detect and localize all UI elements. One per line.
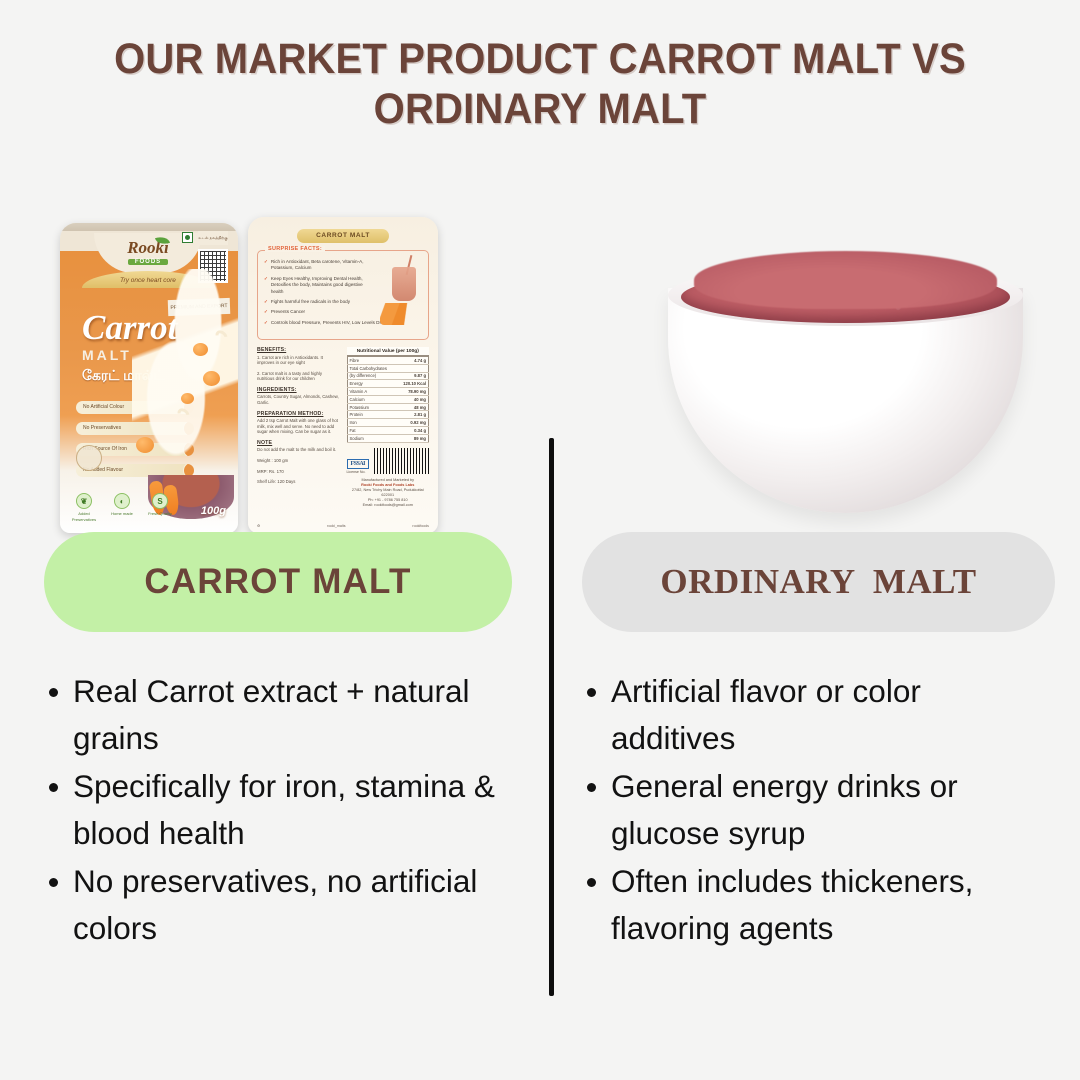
product-name: Carrot bbox=[82, 308, 177, 347]
carrot-malt-label: CARROT MALT bbox=[144, 562, 411, 602]
certification-item: ❦ Added Preservatives bbox=[70, 493, 98, 523]
check-icon: ✓ bbox=[264, 320, 268, 326]
surprise-facts-title: SURPRISE FACTS: bbox=[265, 246, 325, 252]
nutrient-value: 89 mg bbox=[396, 434, 428, 442]
cashew-icon bbox=[213, 328, 229, 344]
benefit-text: 1. Carrot are rich in Antioxidants. It i… bbox=[257, 355, 340, 366]
check-icon: ✓ bbox=[264, 259, 268, 272]
back-detail-columns: BENEFITS: 1. Carrot are rich in Antioxid… bbox=[257, 347, 429, 508]
feature-chip-label: No Preservatives bbox=[83, 425, 121, 431]
feature-dot-icon bbox=[183, 443, 194, 456]
nutrient-label: Calcium bbox=[347, 395, 396, 403]
table-row: (by difference) 9.87 g bbox=[347, 372, 429, 380]
note-heading: NOTE bbox=[257, 440, 340, 446]
carrot-illustration bbox=[380, 303, 420, 325]
certification-row: ❦ Added Preservatives ◐ Home made S Fres… bbox=[70, 493, 174, 523]
ordinary-malt-label: ORDINARY MALT bbox=[660, 562, 976, 602]
front-product-title: Carrot MALT கேரட் மால்ட் bbox=[82, 311, 177, 386]
pack-detail: MRP: Rs. 170 bbox=[257, 469, 340, 475]
certification-item: ◐ Home made bbox=[108, 493, 136, 523]
table-row: Iron 0.92 mg bbox=[347, 419, 429, 427]
table-row: Fat 0.34 g bbox=[347, 427, 429, 435]
fact-text: Rich in Antioxidant, Beta carotene, Vita… bbox=[271, 259, 370, 272]
social-handle: rookifoods bbox=[412, 524, 429, 528]
brand-subtitle: FOODS bbox=[128, 259, 168, 265]
powder-mound bbox=[694, 251, 997, 309]
back-pouch-footer: ♻ rooki_malts rookifoods bbox=[257, 524, 429, 528]
fssai-barcode-row: FSSAI License No. bbox=[347, 448, 430, 474]
certification-item: S Fresh Quality bbox=[146, 493, 174, 523]
nutrient-value: 48 mg bbox=[396, 403, 428, 411]
nutrient-label: Fat bbox=[347, 427, 396, 435]
fssai-logo-icon: FSSAI bbox=[347, 459, 370, 469]
carrot-chunk-icon bbox=[203, 371, 220, 386]
nutrient-label: (by difference) bbox=[347, 372, 396, 380]
tamil-tagline-tag: உடல் நலத்திற்கு bbox=[198, 231, 228, 245]
ordinary-malt-bowl-image bbox=[650, 260, 1040, 525]
feature-dot-icon bbox=[183, 422, 194, 435]
fact-text: Prevents Cancer bbox=[271, 309, 305, 315]
fssai-license-number: License No. bbox=[347, 470, 370, 474]
note-text: Do not add the malt to the milk and boil… bbox=[257, 447, 340, 453]
certification-label: Fresh Quality bbox=[148, 511, 172, 516]
nutrient-label: Potassium bbox=[347, 403, 396, 411]
back-left-column: BENEFITS: 1. Carrot are rich in Antioxid… bbox=[257, 347, 340, 508]
product-type: MALT bbox=[82, 347, 177, 363]
ingredients-heading: INGREDIENTS: bbox=[257, 387, 340, 393]
glass-icon bbox=[392, 267, 416, 301]
certification-icon: S bbox=[152, 493, 168, 509]
pack-detail: Weight : 100 gm bbox=[257, 458, 340, 464]
nutrient-label: Sodium bbox=[347, 434, 396, 442]
brand-ribbon: Try once heart core bbox=[82, 271, 214, 288]
list-item: Real Carrot extract + natural grains bbox=[40, 668, 540, 762]
ingredients-text: Carrots, Country Sugar, Almonds, Cashew,… bbox=[257, 394, 340, 405]
nutrient-value: 0.92 mg bbox=[396, 419, 428, 427]
nutrition-table-title: Nutritional Value (per 100g) bbox=[347, 347, 430, 356]
check-icon: ✓ bbox=[264, 276, 268, 295]
table-row: Total Carbohydrates bbox=[347, 364, 429, 372]
benefit-item: Carrot are rich in Antioxidants. It impr… bbox=[257, 355, 323, 366]
table-row: Energy 120.10 Kcal bbox=[347, 380, 429, 388]
back-right-column: Nutritional Value (per 100g) Fibre 4.74 … bbox=[347, 347, 430, 508]
feature-chip: No Preservatives bbox=[76, 422, 194, 435]
ordinary-malt-drawbacks-list: Artificial flavor or color additives Gen… bbox=[578, 668, 1048, 953]
back-product-header: CARROT MALT bbox=[297, 229, 389, 243]
carrot-pouch-front-image: Rooki FOODS Try once heart core உடல் நலத… bbox=[60, 223, 238, 533]
bowl bbox=[668, 260, 1023, 518]
quality-seal-icon bbox=[76, 445, 102, 471]
fact-text: Fights harmful free radicals in the body bbox=[271, 299, 350, 305]
nutrient-value: 120.10 Kcal bbox=[396, 380, 428, 388]
vertical-divider bbox=[549, 438, 554, 996]
product-name-tamil: கேரட் மால்ட் bbox=[82, 367, 177, 386]
nutrient-value bbox=[396, 364, 428, 372]
list-item: Specifically for iron, stamina & blood h… bbox=[40, 763, 540, 857]
carrot-chunk-icon bbox=[193, 343, 208, 356]
page-title-line-2: ORDINARY MALT bbox=[38, 84, 1042, 134]
drink-illustration bbox=[374, 257, 424, 329]
pack-detail: Shelf Life: 120 Days bbox=[257, 479, 340, 485]
list-item: Often includes thickeners, flavoring age… bbox=[578, 858, 1048, 952]
nutrient-label: Protein bbox=[347, 411, 396, 419]
check-icon: ✓ bbox=[264, 299, 268, 305]
table-row: Vitamin A 78.90 mg bbox=[347, 388, 429, 396]
nutrient-value: 40 mg bbox=[396, 395, 428, 403]
ordinary-malt-label-pill: ORDINARY MALT bbox=[582, 532, 1055, 632]
carrot-pouch-back-image: CARROT MALT SURPRISE FACTS: ✓ Rich in An… bbox=[248, 217, 438, 533]
company-address: 27/82, New Trichy Main Road, Pudukkottai… bbox=[347, 488, 430, 498]
nutrient-label: Energy bbox=[347, 380, 396, 388]
table-row: Potassium 48 mg bbox=[347, 403, 429, 411]
preparation-heading: PREPARATION METHOD: bbox=[257, 411, 340, 417]
feature-chip-label: No Artificial Colour bbox=[83, 404, 124, 410]
certification-label: Home made bbox=[111, 511, 133, 516]
nutrient-label: Total Carbohydrates bbox=[347, 364, 396, 372]
manufacturer-block: Manufactured and Marketed by Rooki Foods… bbox=[347, 478, 430, 508]
page-title-line-1: OUR MARKET PRODUCT CARROT MALT VS bbox=[38, 34, 1042, 84]
list-item: General energy drinks or glucose syrup bbox=[578, 763, 1048, 857]
nutrient-value: 0.34 g bbox=[396, 427, 428, 435]
product-images-row: Rooki FOODS Try once heart core உடல் நலத… bbox=[0, 205, 1080, 545]
carrot-malt-pouches: Rooki FOODS Try once heart core உடல் நலத… bbox=[52, 215, 462, 540]
carrot-malt-benefits-list: Real Carrot extract + natural grains Spe… bbox=[40, 668, 540, 953]
nutrient-value: 2.81 g bbox=[396, 411, 428, 419]
benefit-item: Carrot malt is a tasty and highly nutrit… bbox=[257, 371, 322, 382]
table-row: Calcium 40 mg bbox=[347, 395, 429, 403]
carrot-chunk-icon bbox=[181, 393, 194, 404]
table-row: Protein 2.81 g bbox=[347, 411, 429, 419]
surprise-facts-box: SURPRISE FACTS: ✓ Rich in Antioxidant, B… bbox=[257, 250, 429, 340]
table-row: Sodium 89 mg bbox=[347, 434, 429, 442]
preparation-text: Add 2 tsp Carrot Malt with one glass of … bbox=[257, 418, 340, 435]
qr-code-icon bbox=[198, 249, 228, 283]
nutrient-value: 4.74 g bbox=[396, 357, 428, 365]
benefits-heading: BENEFITS: bbox=[257, 347, 340, 353]
nutrient-value: 78.90 mg bbox=[396, 388, 428, 396]
benefit-text: 2. Carrot malt is a tasty and highly nut… bbox=[257, 371, 340, 382]
vegetarian-mark-icon bbox=[182, 232, 193, 243]
nutrient-label: Vitamin A bbox=[347, 388, 396, 396]
fact-text: Keep Eyes Healthy, Improving Dental Heal… bbox=[271, 276, 370, 295]
company-email: Email: rookifoods@gmail.com bbox=[347, 503, 430, 508]
barcode-icon bbox=[374, 448, 429, 474]
certification-label: Added Preservatives bbox=[72, 511, 96, 522]
table-row: Fibre 4.74 g bbox=[347, 357, 429, 365]
nutrition-table: Nutritional Value (per 100g) Fibre 4.74 … bbox=[347, 347, 430, 443]
check-icon: ✓ bbox=[264, 309, 268, 315]
page-title: OUR MARKET PRODUCT CARROT MALT VS ORDINA… bbox=[0, 34, 1080, 134]
nutrient-value: 9.87 g bbox=[396, 372, 428, 380]
carrot-malt-label-pill: CARROT MALT bbox=[44, 532, 512, 632]
net-weight-label: 100g bbox=[201, 505, 226, 517]
recycle-icon: ♻ bbox=[257, 524, 260, 528]
list-item: No preservatives, no artificial colors bbox=[40, 858, 540, 952]
nutrient-label: Fibre bbox=[347, 357, 396, 365]
list-item: Artificial flavor or color additives bbox=[578, 668, 1048, 762]
certification-icon: ◐ bbox=[114, 493, 130, 509]
certification-icon: ❦ bbox=[76, 493, 92, 509]
carrot-chunk-icon bbox=[136, 437, 154, 453]
nutrient-label: Iron bbox=[347, 419, 396, 427]
social-handle: rooki_malts bbox=[327, 524, 345, 528]
bowl-rim bbox=[668, 264, 1023, 326]
